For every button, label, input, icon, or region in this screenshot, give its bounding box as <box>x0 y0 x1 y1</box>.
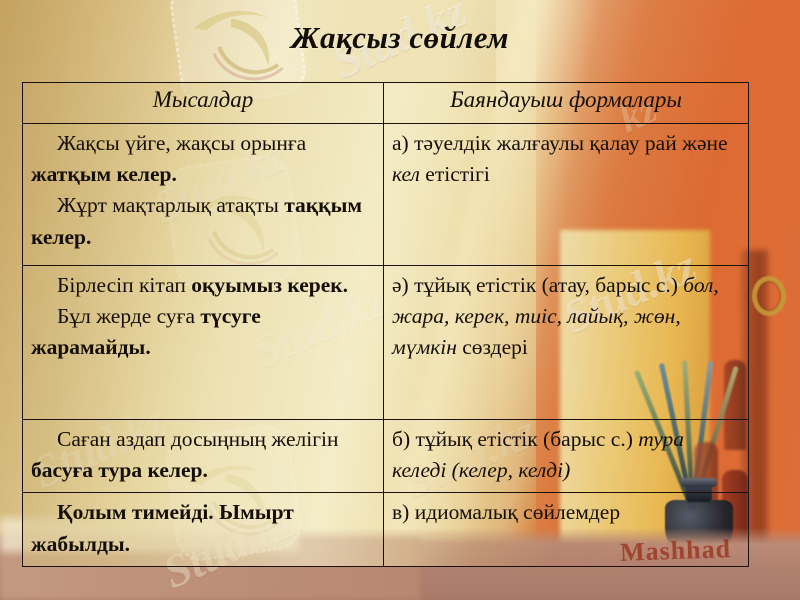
predicate-form-marker: б) <box>392 427 410 451</box>
table-header-row: Мысалдар Баяндауыш формалары <box>23 83 749 124</box>
predicate-form-plain-tail: сөздері <box>457 335 528 359</box>
predicate-form-plain: тәуелдік жалғаулы қалау рай және <box>409 131 728 155</box>
cell-examples: Жақсы үйге, жақсы орынға жатқым келер.Жұ… <box>23 124 384 266</box>
example-sentence: Жақсы үйге, жақсы орынға жатқым келер. <box>31 128 375 190</box>
table-row: Қолым тимейді. Ымырт жабылды.в) идиомалы… <box>23 493 749 567</box>
example-predicate-highlight: басуға тура келер. <box>31 458 208 482</box>
example-sentence: Жұрт мақтарлық атақты таққым келер. <box>31 190 375 252</box>
predicate-form-text: б) тұйық етістік (барыс с.) тура келеді … <box>392 424 740 486</box>
predicate-form-plain: идиомалық сөйлемдер <box>409 500 620 524</box>
slide-canvas: Stud.kz Stud.kz Stud.kz Stud.kz kz Stud.… <box>0 0 800 600</box>
predicate-form-text: а) тәуелдік жалғаулы қалау рай және кел … <box>392 128 740 190</box>
example-predicate-highlight: Қолым тимейді. Ымырт жабылды. <box>31 500 294 555</box>
cell-predicate-form: а) тәуелдік жалғаулы қалау рай және кел … <box>384 124 749 266</box>
predicate-form-text: в) идиомалық сөйлемдер <box>392 497 740 528</box>
predicate-form-marker: ә) <box>392 273 409 297</box>
cell-predicate-form: б) тұйық етістік (барыс с.) тура келеді … <box>384 420 749 493</box>
page-title: Жақсыз сөйлем <box>0 20 800 56</box>
example-plain-part: Саған аздап досыңның желігін <box>57 427 339 451</box>
example-plain-part: Бұл жерде суға <box>57 304 200 328</box>
predicate-form-plain: тұйық етістік (атау, барыс с.) <box>409 273 684 297</box>
example-sentence: Саған аздап досыңның желігін басуға тура… <box>31 424 375 486</box>
cell-examples: Бірлесіп кітап оқуымыз керек.Бұл жерде с… <box>23 266 384 420</box>
predicate-form-marker: в) <box>392 500 409 524</box>
table-row: Жақсы үйге, жақсы орынға жатқым келер.Жұ… <box>23 124 749 266</box>
example-predicate-highlight: жатқым келер. <box>31 162 177 186</box>
table-body: Жақсы үйге, жақсы орынға жатқым келер.Жұ… <box>23 124 749 567</box>
example-sentence: Бірлесіп кітап оқуымыз керек. <box>31 270 375 301</box>
predicate-form-text: ә) тұйық етістік (атау, барыс с.) бол, ж… <box>392 270 740 364</box>
cell-examples: Саған аздап досыңның желігін басуға тура… <box>23 420 384 493</box>
example-plain-part: Бірлесіп кітап <box>57 273 191 297</box>
table-row: Бірлесіп кітап оқуымыз керек.Бұл жерде с… <box>23 266 749 420</box>
comparison-table: Мысалдар Баяндауыш формалары Жақсы үйге,… <box>22 82 749 567</box>
cell-predicate-form: ә) тұйық етістік (атау, барыс с.) бол, ж… <box>384 266 749 420</box>
predicate-form-plain: тұйық етістік (барыс с.) <box>410 427 638 451</box>
column-header-forms: Баяндауыш формалары <box>384 83 749 124</box>
predicate-form-italic: кел <box>392 162 420 186</box>
brass-ring-icon <box>752 276 786 316</box>
predicate-form-marker: а) <box>392 131 409 155</box>
example-plain-part: Жұрт мақтарлық атақты <box>57 193 284 217</box>
table-row: Саған аздап досыңның желігін басуға тура… <box>23 420 749 493</box>
cell-examples: Қолым тимейді. Ымырт жабылды. <box>23 493 384 567</box>
predicate-form-plain-tail: етістігі <box>420 162 490 186</box>
example-sentence: Қолым тимейді. Ымырт жабылды. <box>31 497 375 559</box>
column-header-examples: Мысалдар <box>23 83 384 124</box>
cell-predicate-form: в) идиомалық сөйлемдер <box>384 493 749 567</box>
example-sentence: Бұл жерде суға түсуге жарамайды. <box>31 301 375 363</box>
comparison-table-wrapper: Мысалдар Баяндауыш формалары Жақсы үйге,… <box>22 82 748 567</box>
example-plain-part: Жақсы үйге, жақсы орынға <box>57 131 306 155</box>
example-predicate-highlight: оқуымыз керек. <box>191 273 348 297</box>
